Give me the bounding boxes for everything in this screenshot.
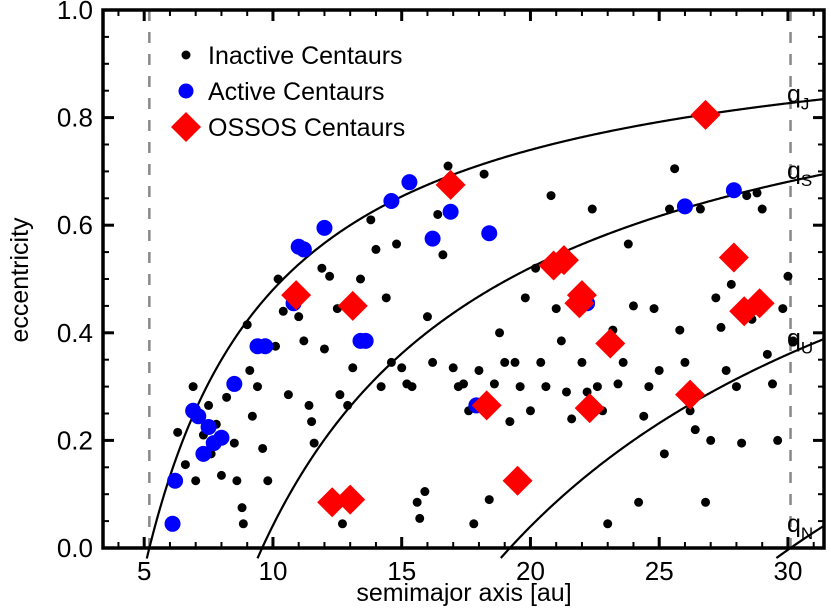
data-point: [650, 304, 659, 313]
data-point: [257, 338, 273, 354]
data-point: [294, 312, 303, 321]
data-point: [521, 293, 530, 302]
curve-label-base: q: [787, 81, 801, 109]
legend-marker-0: [182, 51, 191, 60]
curve-label-subscript: U: [801, 338, 813, 357]
data-point: [485, 495, 494, 504]
data-point: [614, 379, 623, 388]
data-point: [511, 358, 520, 367]
data-point: [263, 476, 272, 485]
data-point: [768, 379, 777, 388]
data-point: [383, 193, 399, 209]
data-point: [691, 425, 700, 434]
data-point: [382, 293, 391, 302]
data-point: [343, 401, 352, 410]
y-tick-label: 0.8: [57, 103, 93, 133]
curve-label-subscript: N: [801, 524, 813, 543]
x-tick-label: 25: [645, 556, 674, 586]
data-point: [588, 205, 597, 214]
data-point: [670, 164, 679, 173]
eccentricity-vs-semimajor-axis-scatter-plot: 51015202530 0.00.20.40.60.81.0 semimajor…: [0, 0, 831, 609]
data-point: [338, 519, 347, 528]
legend-label-1: Active Centaurs: [208, 78, 384, 106]
x-tick-label: 5: [137, 556, 151, 586]
data-point: [307, 417, 316, 426]
data-point: [226, 376, 242, 392]
data-point: [335, 390, 344, 399]
chart-root: 51015202530 0.00.20.40.60.81.0 semimajor…: [0, 0, 831, 609]
data-point: [490, 379, 499, 388]
data-point: [531, 264, 540, 273]
x-tick-label: 10: [258, 556, 287, 586]
data-point: [619, 358, 628, 367]
data-point: [717, 323, 726, 332]
data-point: [567, 414, 576, 423]
data-point: [634, 498, 643, 507]
data-point: [230, 439, 239, 448]
y-tick-label: 0.0: [57, 533, 93, 563]
data-point: [639, 412, 648, 421]
data-point: [444, 162, 453, 171]
data-point: [316, 220, 332, 236]
data-point: [624, 240, 633, 249]
data-point: [253, 382, 262, 391]
data-point: [480, 170, 489, 179]
data-point: [189, 382, 198, 391]
data-point: [536, 358, 545, 367]
curve-label-base: q: [787, 324, 801, 352]
data-point: [258, 444, 267, 453]
data-point: [449, 363, 458, 372]
data-point: [727, 280, 736, 289]
curve-label-base: q: [787, 510, 801, 538]
data-point: [469, 519, 478, 528]
data-point: [500, 358, 509, 367]
data-point: [238, 503, 247, 512]
data-point: [701, 498, 710, 507]
data-point: [320, 344, 329, 353]
data-point: [660, 449, 669, 458]
data-point: [317, 264, 326, 273]
y-tick-label: 0.6: [57, 210, 93, 240]
y-axis-title: eccentricity: [6, 217, 34, 343]
data-point: [481, 225, 497, 241]
data-point: [541, 382, 550, 391]
x-tick-label: 30: [773, 556, 802, 586]
data-point: [516, 382, 525, 391]
data-point: [783, 272, 792, 281]
data-point: [433, 210, 442, 219]
legend-label-0: Inactive Centaurs: [208, 42, 403, 70]
data-point: [459, 379, 468, 388]
data-point: [299, 336, 308, 345]
data-point: [348, 363, 357, 372]
data-point: [232, 476, 241, 485]
data-point: [191, 476, 200, 485]
data-point: [737, 439, 746, 448]
y-tick-label: 0.2: [57, 425, 93, 455]
curve-label-base: q: [787, 157, 801, 185]
curve-label-subscript: J: [801, 95, 810, 114]
data-point: [279, 307, 288, 316]
data-point: [167, 473, 183, 489]
data-point: [217, 471, 226, 480]
data-point: [173, 428, 182, 437]
data-point: [680, 358, 689, 367]
data-point: [392, 240, 401, 249]
data-point: [732, 382, 741, 391]
data-point: [408, 382, 417, 391]
data-point: [773, 436, 782, 445]
data-point: [239, 519, 248, 528]
x-axis-title: semimajor axis [au]: [356, 579, 571, 607]
data-point: [763, 350, 772, 359]
legend-marker-1: [179, 84, 194, 99]
data-point: [425, 231, 441, 247]
data-point: [438, 250, 447, 259]
data-point: [415, 514, 424, 523]
curve-label-subscript: S: [801, 171, 812, 190]
data-point: [413, 498, 422, 507]
data-point: [603, 519, 612, 528]
data-point: [655, 366, 664, 375]
data-point: [243, 320, 252, 329]
data-point: [742, 191, 751, 200]
data-point: [222, 393, 231, 402]
data-point: [201, 419, 217, 435]
data-point: [377, 382, 386, 391]
data-point: [325, 272, 334, 281]
data-point: [248, 412, 257, 421]
data-point: [552, 304, 561, 313]
data-point: [356, 275, 365, 284]
data-point: [644, 382, 653, 391]
data-point: [753, 188, 762, 197]
y-tick-label: 1.0: [57, 0, 93, 25]
data-point: [305, 401, 314, 410]
data-point: [428, 358, 437, 367]
data-point: [366, 215, 375, 224]
data-point: [310, 439, 319, 448]
data-point: [420, 487, 429, 496]
data-point: [778, 304, 787, 313]
data-point: [629, 301, 638, 310]
data-point: [577, 358, 586, 367]
data-point: [758, 205, 767, 214]
data-point: [371, 245, 380, 254]
data-point: [593, 382, 602, 391]
data-point: [358, 333, 374, 349]
data-point: [397, 363, 406, 372]
data-point: [665, 205, 674, 214]
data-point: [165, 516, 181, 532]
data-point: [711, 293, 720, 302]
data-point: [296, 241, 312, 257]
data-point: [401, 174, 417, 190]
data-point: [181, 460, 190, 469]
legend-label-2: OSSOS Centaurs: [208, 114, 405, 142]
data-point: [526, 406, 535, 415]
data-point: [284, 390, 293, 399]
data-point: [274, 275, 283, 284]
data-point: [213, 430, 229, 446]
data-point: [557, 336, 566, 345]
data-point: [562, 387, 571, 396]
data-point: [443, 204, 459, 220]
data-point: [474, 366, 483, 375]
y-tick-label: 0.4: [57, 318, 93, 348]
data-point: [245, 366, 254, 375]
data-point: [547, 191, 556, 200]
data-point: [505, 417, 514, 426]
data-point: [387, 358, 396, 367]
data-point: [423, 312, 432, 321]
data-point: [722, 366, 731, 375]
data-point: [675, 326, 684, 335]
data-point: [696, 205, 705, 214]
data-point: [726, 182, 742, 198]
data-point: [495, 328, 504, 337]
data-point: [706, 436, 715, 445]
data-point: [204, 401, 213, 410]
data-point: [677, 198, 693, 214]
